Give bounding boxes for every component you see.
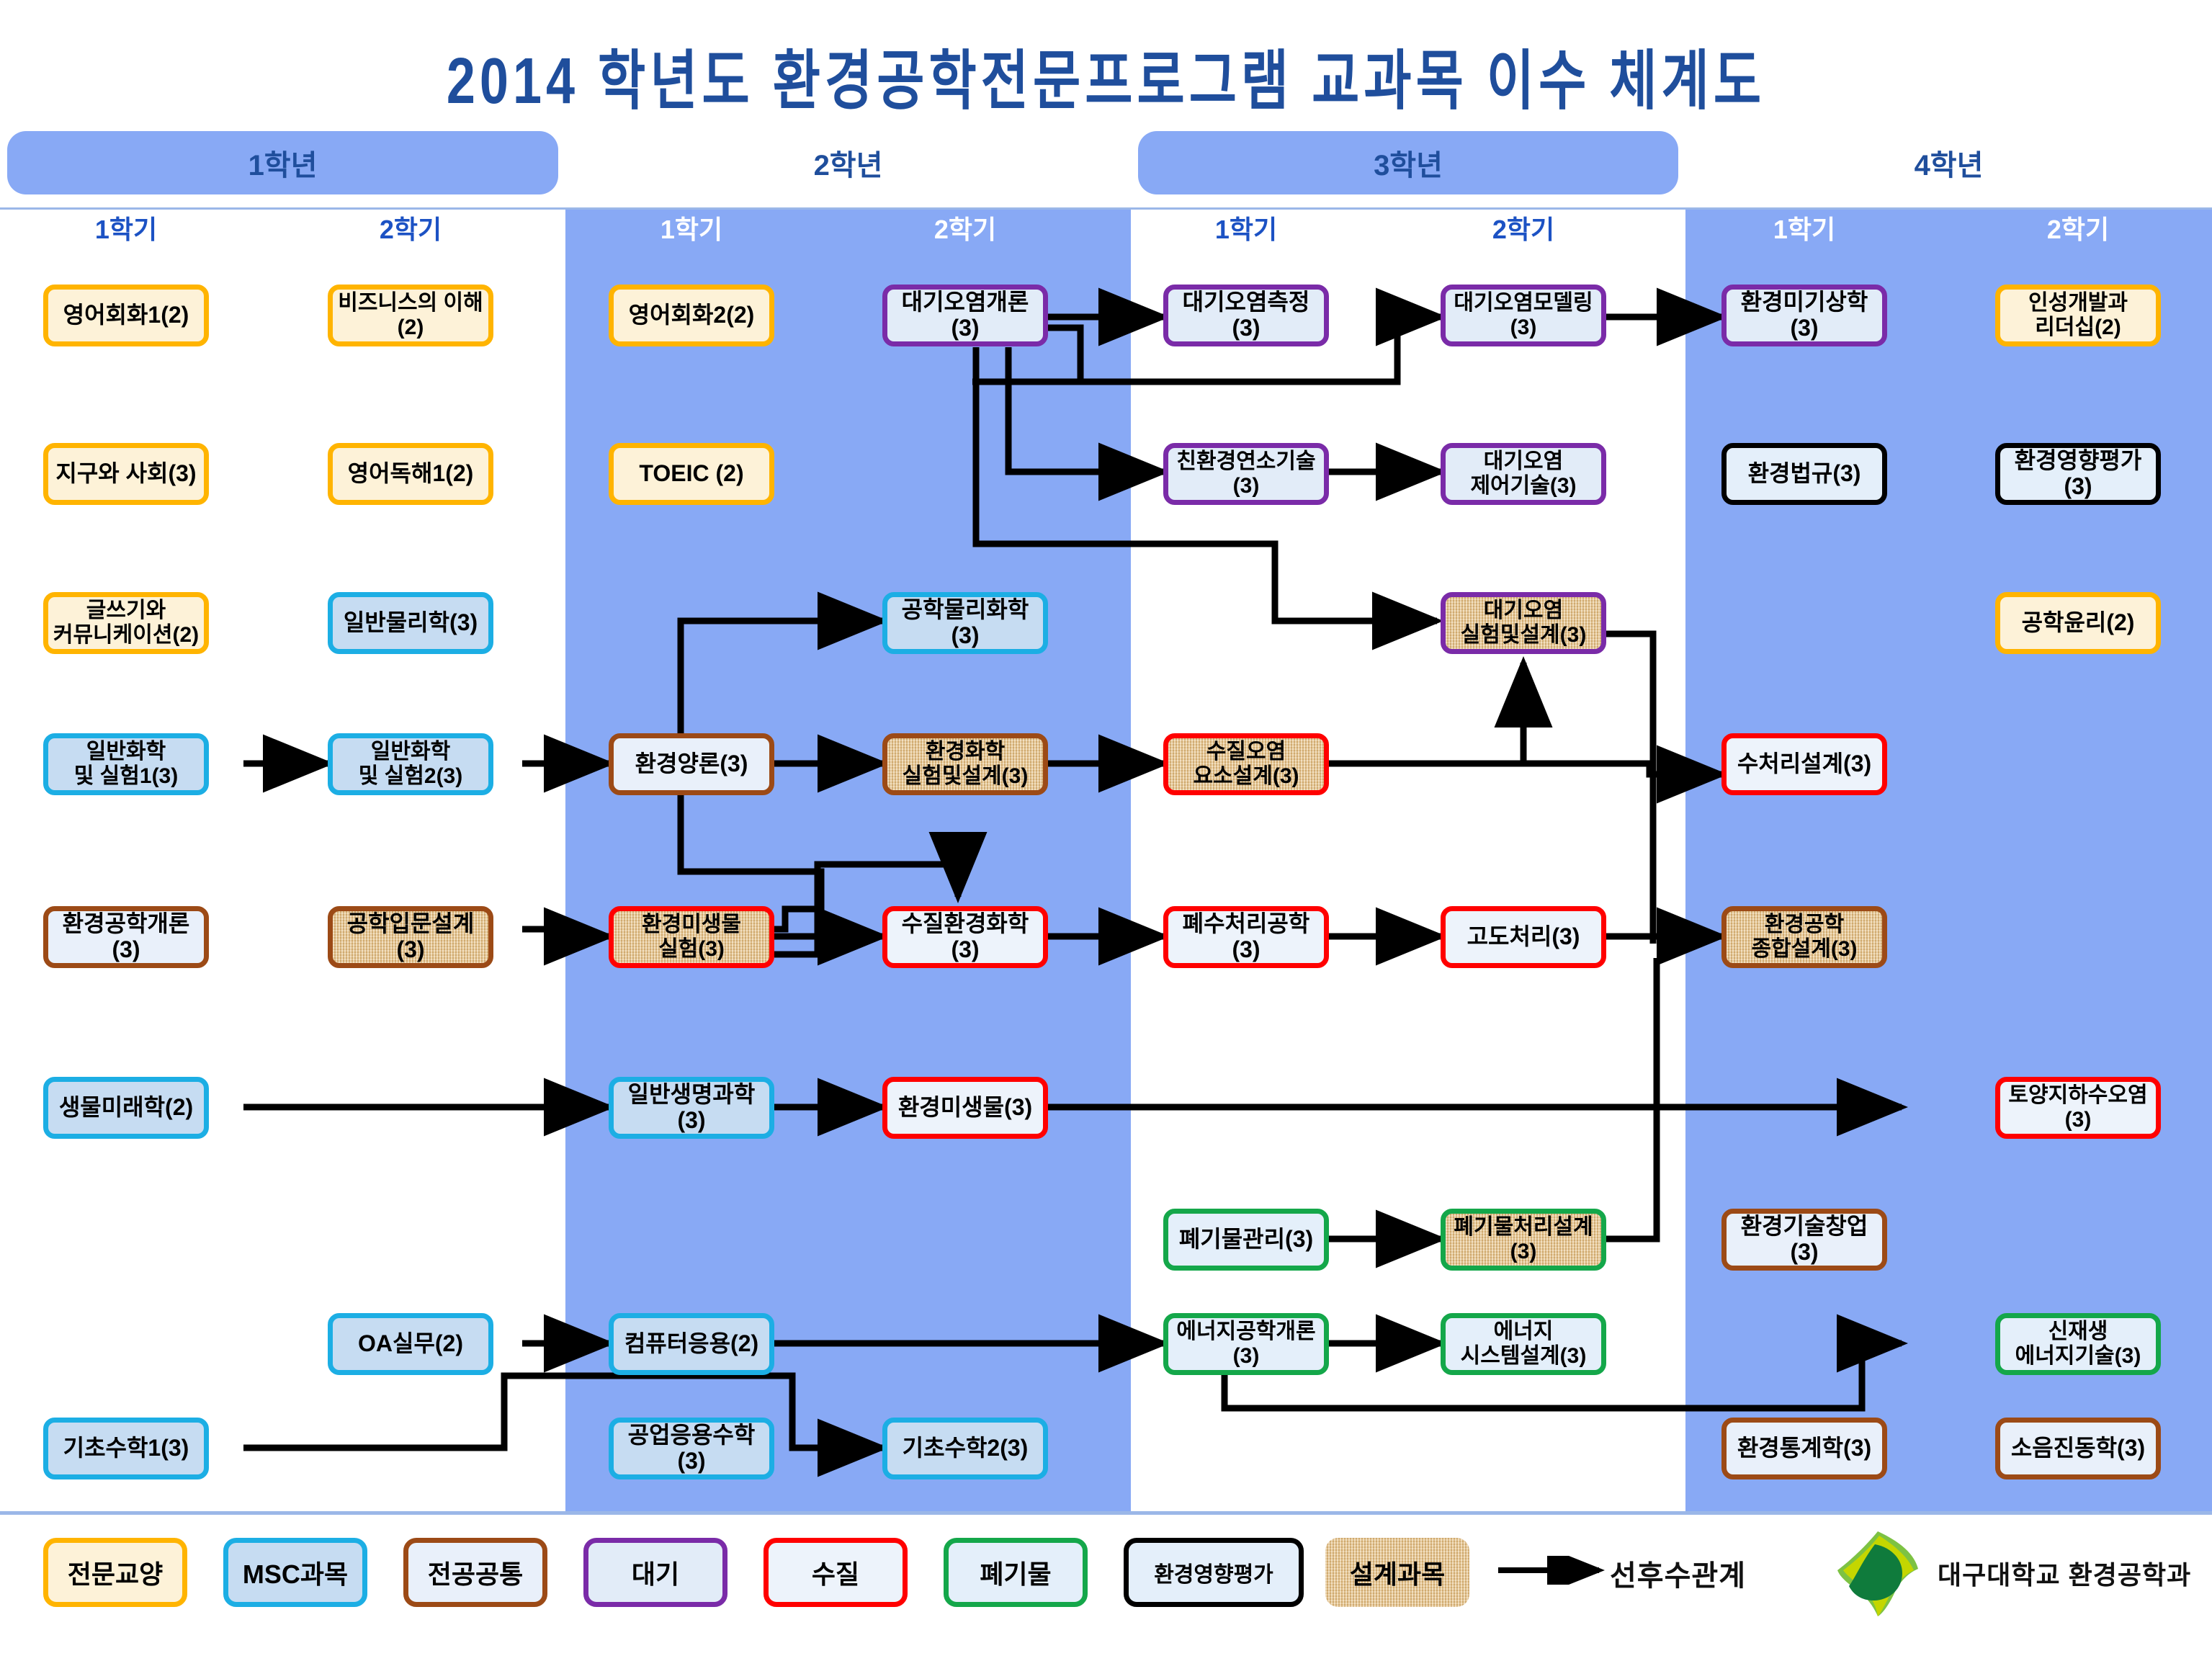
course-box-biofuture[interactable]: 생물미래학(2) — [43, 1077, 209, 1139]
semester-header-5: 1학기 — [1174, 209, 1318, 246]
semester-header-4: 2학기 — [893, 209, 1037, 246]
course-box-wastewatereng[interactable]: 폐수처리공학(3) — [1163, 906, 1329, 968]
course-box-energyintro[interactable]: 에너지공학개론 (3) — [1163, 1313, 1329, 1375]
curriculum-flowchart: 2014 학년도 환경공학전문프로그램 교과목 이수 체계도 1학년2학년3학년… — [0, 0, 2212, 1659]
course-box-writing[interactable]: 글쓰기와 커뮤니케이션(2) — [43, 592, 209, 654]
legend-arrow-icon — [1498, 1556, 1606, 1585]
course-box-ecocombust[interactable]: 친환경연소기술 (3) — [1163, 443, 1329, 505]
legend-arrow-label: 선후수관계 — [1610, 1552, 1746, 1594]
course-box-airpollmeas[interactable]: 대기오염측정(3) — [1163, 285, 1329, 346]
course-box-engread1[interactable]: 영어독해1(2) — [328, 443, 493, 505]
legend-item-6: 환경영향평가 — [1124, 1538, 1304, 1607]
course-box-genphys[interactable]: 일반물리학(3) — [328, 592, 493, 654]
course-box-oa[interactable]: OA실무(2) — [328, 1313, 493, 1375]
course-box-envintro[interactable]: 환경공학개론(3) — [43, 906, 209, 968]
course-box-energysys[interactable]: 에너지 시스템설계(3) — [1441, 1313, 1606, 1375]
semester-header-8: 2학기 — [2006, 209, 2150, 246]
course-box-eng_conv1[interactable]: 영어회화1(2) — [43, 285, 209, 346]
course-box-airpollctrl[interactable]: 대기오염 제어기술(3) — [1441, 443, 1606, 505]
course-box-envchemexp[interactable]: 환경화학 실험및설계(3) — [882, 733, 1048, 795]
course-box-leadership[interactable]: 인성개발과 리더십(2) — [1995, 285, 2161, 346]
semester-header-7: 1학기 — [1732, 209, 1876, 246]
semester-header-1: 1학기 — [54, 209, 198, 246]
legend-item-1: MSC과목 — [223, 1538, 367, 1607]
course-box-advtreat[interactable]: 고도처리(3) — [1441, 906, 1606, 968]
course-box-envmicroexp[interactable]: 환경미생물 실험(3) — [609, 906, 774, 968]
header-divider — [0, 207, 2212, 210]
legend-item-5: 폐기물 — [944, 1538, 1088, 1607]
legend-item-0: 전문교양 — [43, 1538, 187, 1607]
course-box-basicmath1[interactable]: 기초수학1(3) — [43, 1418, 209, 1479]
course-box-envmicro[interactable]: 환경미생물(3) — [882, 1077, 1048, 1139]
course-box-noisevib[interactable]: 소음진동학(3) — [1995, 1418, 2161, 1479]
course-box-business[interactable]: 비즈니스의 이해 (2) — [328, 285, 493, 346]
page-title: 2014 학년도 환경공학전문프로그램 교과목 이수 체계도 — [0, 27, 2212, 122]
semester-header-6: 2학기 — [1451, 209, 1595, 246]
course-box-waterdesign[interactable]: 수처리설계(3) — [1721, 733, 1887, 795]
course-box-envquality[interactable]: 환경양론(3) — [609, 733, 774, 795]
course-box-basicmath2[interactable]: 기초수학2(3) — [882, 1418, 1048, 1479]
course-box-envimpact[interactable]: 환경영향평가(3) — [1995, 443, 2161, 505]
course-box-genchem1[interactable]: 일반화학 및 실험1(3) — [43, 733, 209, 795]
course-box-soilgw[interactable]: 토양지하수오염 (3) — [1995, 1077, 2161, 1139]
year-header-2: 2학년 — [573, 131, 1124, 194]
course-box-envlaw[interactable]: 환경법규(3) — [1721, 443, 1887, 505]
course-box-airpollexp[interactable]: 대기오염 실험및설계(3) — [1441, 592, 1606, 654]
daegu-university-logo-icon — [1833, 1528, 1923, 1619]
course-box-waterpolldes[interactable]: 수질오염 요소설계(3) — [1163, 733, 1329, 795]
course-box-waterenvchem[interactable]: 수질환경화학(3) — [882, 906, 1048, 968]
year-header-1: 1학년 — [7, 131, 558, 194]
course-box-airpollintro[interactable]: 대기오염개론(3) — [882, 285, 1048, 346]
course-box-envcapdesign[interactable]: 환경공학 종합설계(3) — [1721, 906, 1887, 968]
course-box-envstats[interactable]: 환경통계학(3) — [1721, 1418, 1887, 1479]
legend-item-3: 대기 — [583, 1538, 727, 1607]
course-box-renewable[interactable]: 신재생 에너지기술(3) — [1995, 1313, 2161, 1375]
legend-item-7: 설계과목 — [1325, 1538, 1469, 1607]
course-box-wastemgmt[interactable]: 폐기물관리(3) — [1163, 1209, 1329, 1271]
year-header-3: 3학년 — [1138, 131, 1678, 194]
semester-header-3: 1학기 — [619, 209, 764, 246]
course-box-genchem2[interactable]: 일반화학 및 실험2(3) — [328, 733, 493, 795]
course-box-comp_app[interactable]: 컴퓨터응용(2) — [609, 1313, 774, 1375]
course-box-earth_soc[interactable]: 지구와 사회(3) — [43, 443, 209, 505]
course-box-engintrodes[interactable]: 공학입문설계(3) — [328, 906, 493, 968]
course-box-micrometeo[interactable]: 환경미기상학(3) — [1721, 285, 1887, 346]
course-box-airpollmodel[interactable]: 대기오염모델링 (3) — [1441, 285, 1606, 346]
course-box-eng_conv2[interactable]: 영어회화2(2) — [609, 285, 774, 346]
course-box-wastedesign[interactable]: 폐기물처리설계 (3) — [1441, 1209, 1606, 1271]
semester-header-2: 2학기 — [339, 209, 483, 246]
logo-text: 대구대학교 환경공학과 — [1938, 1554, 2191, 1592]
course-box-genlifesci[interactable]: 일반생명과학(3) — [609, 1077, 774, 1139]
course-box-toeic[interactable]: TOEIC (2) — [609, 443, 774, 505]
year-header-4: 4학년 — [1693, 131, 2205, 194]
legend-item-2: 전공공통 — [403, 1538, 547, 1607]
course-box-engethics[interactable]: 공학윤리(2) — [1995, 592, 2161, 654]
course-box-engphyschem[interactable]: 공학물리화학(3) — [882, 592, 1048, 654]
course-box-envstartup[interactable]: 환경기술창업(3) — [1721, 1209, 1887, 1271]
legend-item-4: 수질 — [764, 1538, 908, 1607]
course-box-indmath[interactable]: 공업응용수학(3) — [609, 1418, 774, 1479]
